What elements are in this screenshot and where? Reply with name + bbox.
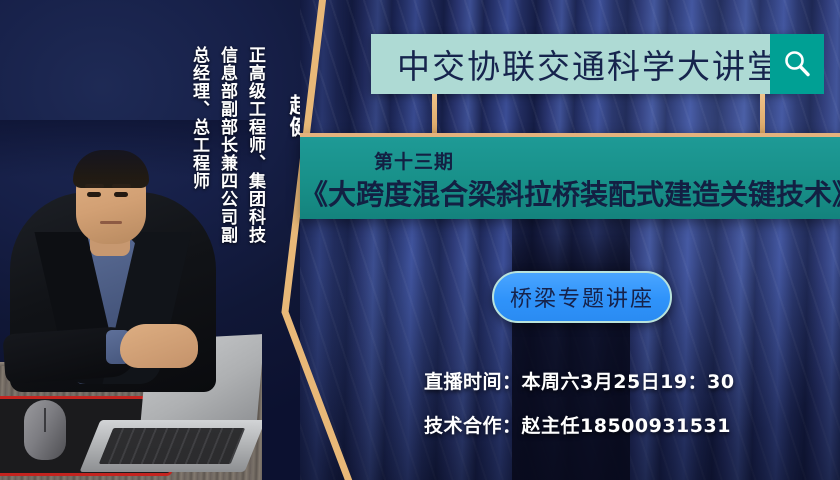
page-title: 中交协联交通科学大讲堂 <box>371 40 782 88</box>
gold-hanger-right <box>760 94 765 136</box>
credential-line-2: 信息部副部长兼四公司副 <box>215 46 240 244</box>
credential-line-1: 正高级工程师、集团科技 <box>243 46 268 244</box>
topic-badge[interactable]: 桥梁专题讲座 <box>492 271 672 323</box>
contact-info: 技术合作：赵主任18500931531 <box>424 411 731 438</box>
topic-badge-label: 桥梁专题讲座 <box>510 281 654 313</box>
gold-hanger-left <box>432 94 437 136</box>
search-button[interactable] <box>770 34 824 94</box>
broadcast-time: 直播时间：本周六3月25日19：30 <box>424 367 735 394</box>
speaker-panel: 赵健 正高级工程师、集团科技 信息部副部长兼四公司副 总经理、总工程师 <box>0 0 340 480</box>
credential-line-3: 总经理、总工程师 <box>187 46 212 190</box>
episode-title: 《大跨度混合梁斜拉桥装配式建造关键技术》 <box>300 173 840 213</box>
speaker-credentials: 赵健 正高级工程师、集团科技 信息部副部长兼四公司副 总经理、总工程师 <box>184 12 314 332</box>
episode-number: 第十三期 <box>374 147 454 174</box>
episode-banner: 第十三期 《大跨度混合梁斜拉桥装配式建造关键技术》 <box>300 133 840 219</box>
search-icon <box>781 48 813 80</box>
webinar-poster: 赵健 正高级工程师、集团科技 信息部副部长兼四公司副 总经理、总工程师 中交协联… <box>0 0 840 480</box>
header-title-bar: 中交协联交通科学大讲堂 <box>371 34 795 94</box>
